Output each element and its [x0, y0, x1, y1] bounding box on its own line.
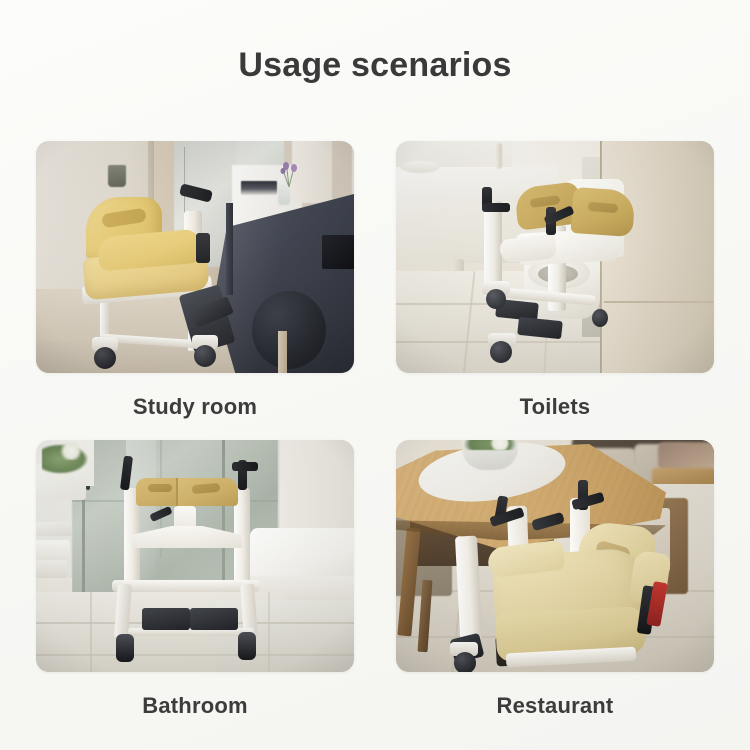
scenario-photo-study-room[interactable] — [36, 141, 354, 373]
scenario-photo-toilets[interactable] — [396, 141, 714, 373]
chair-backrest-cutout — [148, 484, 172, 492]
scenario-card-bathroom[interactable]: Bathroom — [36, 440, 354, 739]
glass-frame — [222, 440, 225, 596]
chair-footplate-right — [190, 608, 238, 630]
books — [241, 181, 277, 195]
caster-wheel — [592, 309, 608, 327]
stool-leg — [278, 331, 287, 373]
caster-wheel — [486, 289, 506, 309]
chair-crank-handle-right — [232, 462, 258, 471]
caster-wheel-front — [94, 347, 116, 369]
usage-scenarios-page: Usage scenarios — [0, 0, 750, 750]
scenario-caption-study-room: Study room — [36, 373, 354, 440]
scenario-photo-bathroom[interactable] — [36, 440, 354, 672]
page-title: Usage scenarios — [0, 46, 750, 85]
chair-backrest-split — [176, 478, 178, 506]
chair-crank-handle-left — [482, 203, 510, 212]
towel-stack — [36, 540, 70, 560]
scenario-card-restaurant[interactable]: Restaurant — [396, 440, 714, 739]
caster-wheel-rear — [194, 345, 216, 367]
cabinet-seam — [604, 301, 714, 303]
floor-grout-line — [268, 592, 270, 672]
scenario-card-study-room[interactable]: Study room — [36, 141, 354, 440]
scenario-caption-toilets: Toilets — [396, 373, 714, 440]
chair-base-bar — [122, 580, 252, 592]
scenario-caption-bathroom: Bathroom — [36, 672, 354, 739]
scenario-caption-restaurant: Restaurant — [396, 672, 714, 739]
floor-grout-line — [90, 592, 92, 672]
stool — [252, 291, 326, 369]
caster-wheel-right — [238, 632, 256, 660]
chair-hardware — [196, 233, 210, 263]
caster-wheel-left — [116, 634, 134, 662]
desk-leg — [226, 203, 233, 295]
faucet — [496, 143, 502, 169]
chair-footplate-left — [142, 608, 190, 630]
caster-wheel — [490, 341, 512, 363]
plant-flowers — [58, 442, 84, 460]
background-people — [658, 442, 714, 470]
cabinet — [602, 141, 714, 373]
shelf — [36, 522, 72, 536]
wall-right — [280, 440, 354, 534]
scenario-photo-restaurant[interactable] — [396, 440, 714, 672]
flowers-icon — [276, 157, 302, 187]
scenario-card-toilets[interactable]: Toilets — [396, 141, 714, 440]
plant-flowers — [488, 440, 512, 450]
scenario-grid: Study room — [36, 141, 714, 739]
floor-grout-line — [36, 654, 354, 656]
cup — [108, 165, 126, 187]
towel-stack — [36, 560, 68, 578]
basin — [400, 161, 440, 173]
caster-wheel — [454, 652, 476, 672]
desk-object — [322, 235, 354, 269]
